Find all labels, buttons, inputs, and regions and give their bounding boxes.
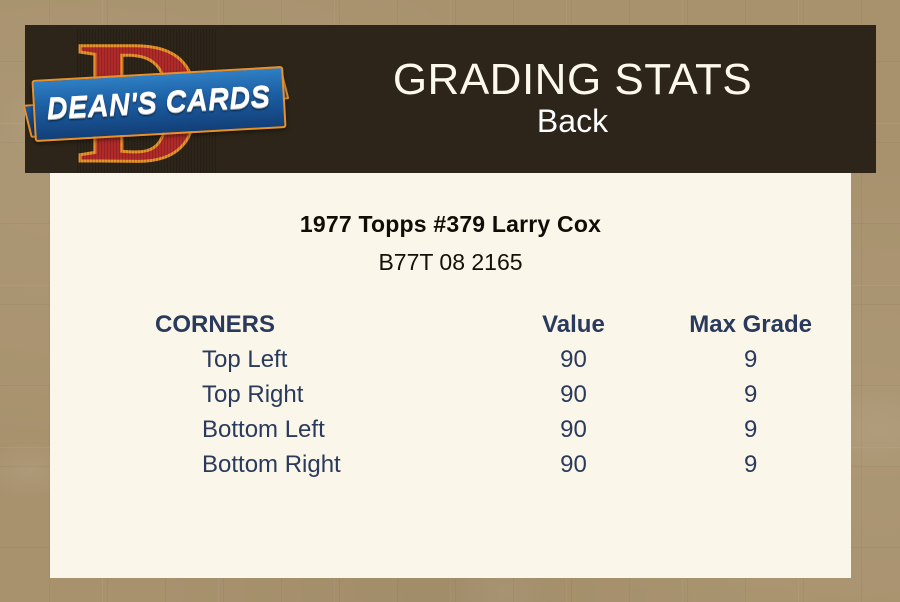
row-max-grade: 9 [650,377,851,412]
row-value: 90 [497,342,651,377]
stats-table-body: Top Left909Top Right909Bottom Left909Bot… [50,342,851,482]
row-label: Bottom Right [50,447,497,482]
header-value: Value [497,307,651,342]
card-title: 1977 Topps #379 Larry Cox [50,211,851,238]
row-label: Top Right [50,377,497,412]
header-max-grade: Max Grade [650,307,851,342]
header-bar: D DEAN'S CARDS GRADING STATS Back [25,25,876,173]
content-panel: 1977 Topps #379 Larry Cox B77T 08 2165 C… [50,173,851,578]
row-label: Bottom Left [50,412,497,447]
row-max-grade: 9 [650,342,851,377]
grading-stats-table: CORNERS Value Max Grade Top Left909Top R… [50,307,851,482]
logo-ribbon-text: DEAN'S CARDS [46,81,271,127]
table-row: Top Left909 [50,342,851,377]
logo-ribbon: DEAN'S CARDS [31,66,286,142]
row-max-grade: 9 [650,412,851,447]
page-subtitle: Back [287,103,858,141]
header-corners: CORNERS [50,307,497,342]
stats-table-head: CORNERS Value Max Grade [50,307,851,342]
stats-header-row: CORNERS Value Max Grade [50,307,851,342]
page-title: GRADING STATS [287,57,858,104]
row-value: 90 [497,447,651,482]
card-serial-number: B77T 08 2165 [50,249,851,276]
table-row: Top Right909 [50,377,851,412]
deans-cards-logo[interactable]: D DEAN'S CARDS [25,25,287,173]
row-value: 90 [497,412,651,447]
row-label: Top Left [50,342,497,377]
table-row: Bottom Right909 [50,447,851,482]
row-max-grade: 9 [650,447,851,482]
row-value: 90 [497,377,651,412]
table-row: Bottom Left909 [50,412,851,447]
header-titles: GRADING STATS Back [287,57,876,141]
